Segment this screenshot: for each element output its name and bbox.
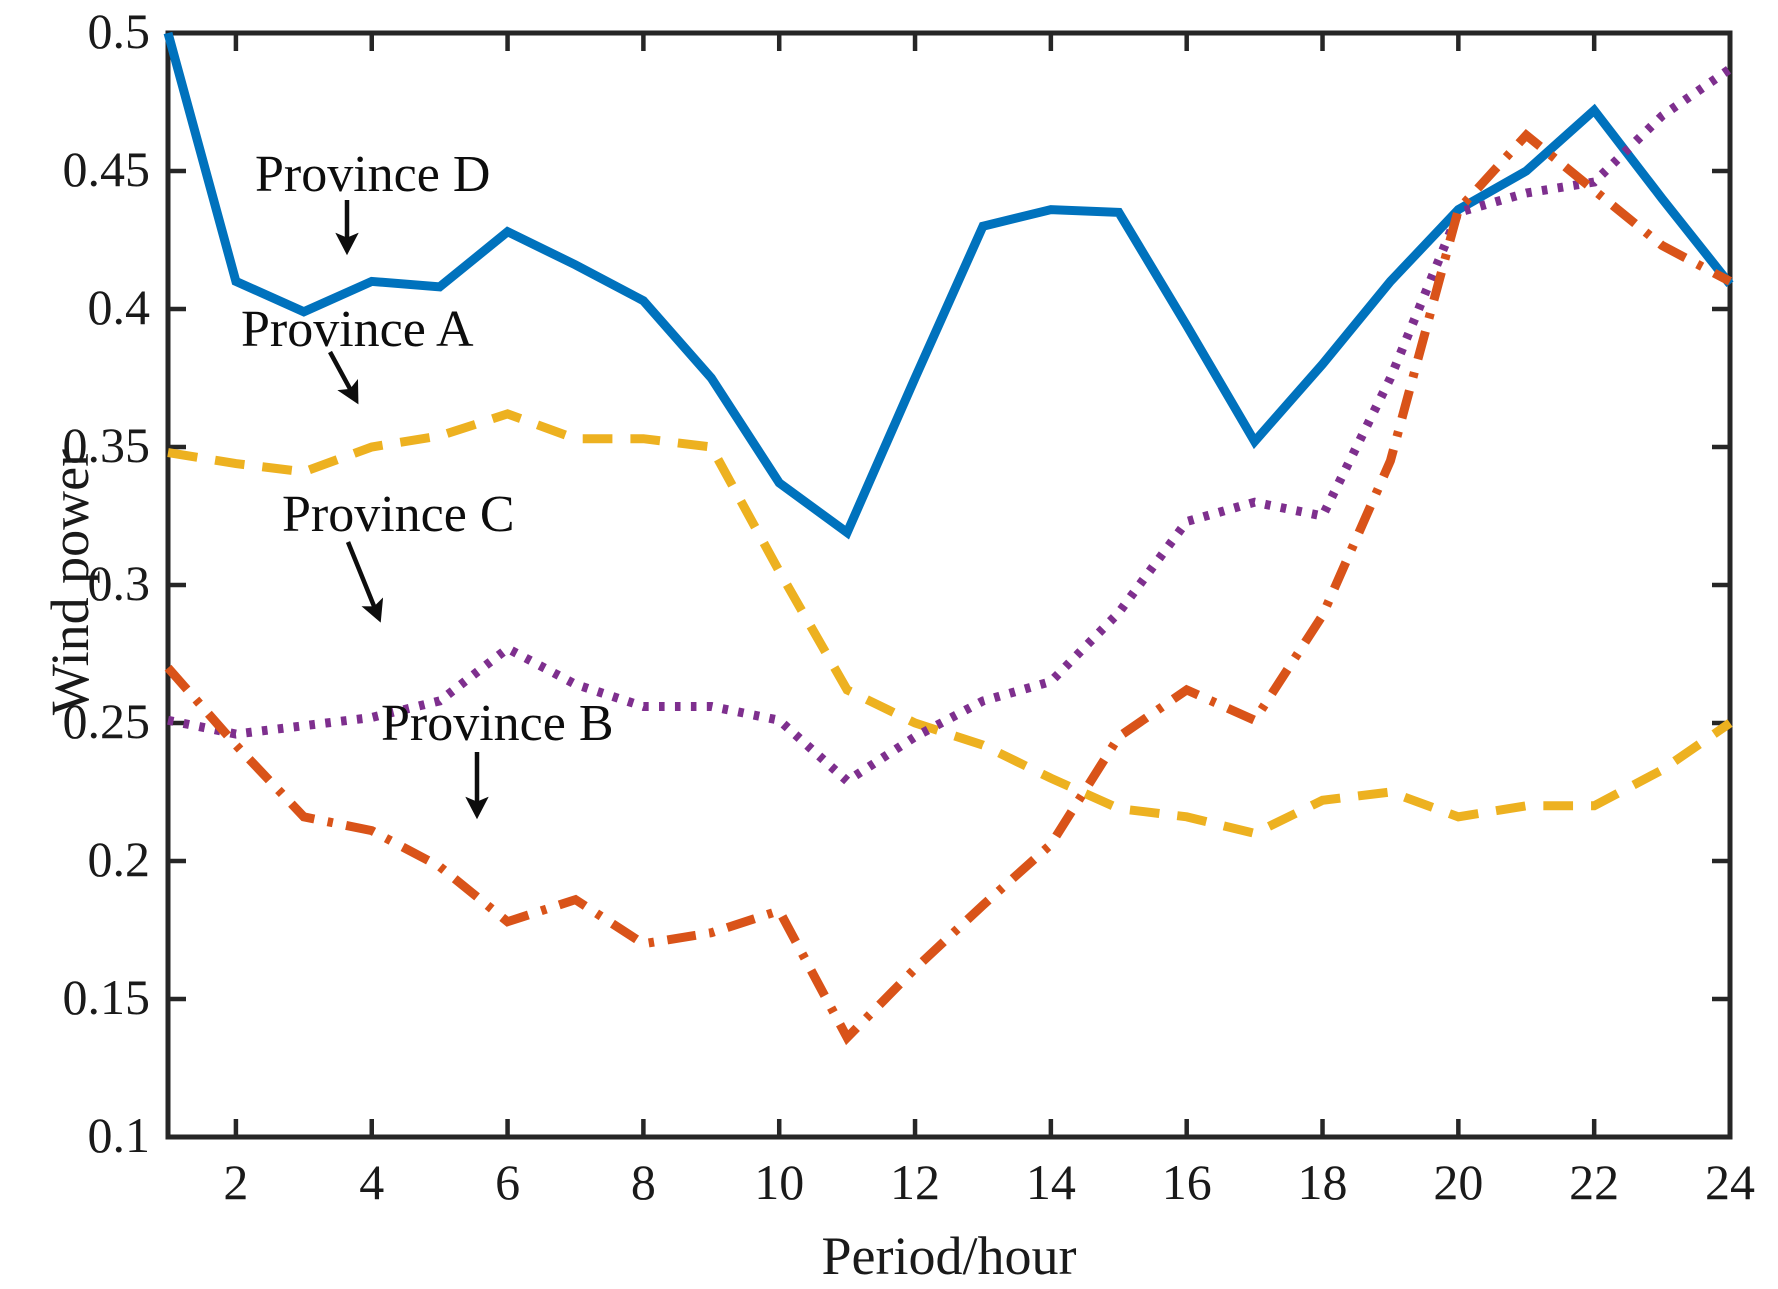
wind-power-chart-figure: Wind power Period/hour 0.10.150.20.250.3…: [0, 0, 1778, 1289]
x-tick-label: 20: [1398, 1157, 1518, 1207]
y-tick-label: 0.35: [63, 420, 151, 470]
y-tick-label: 0.15: [63, 972, 151, 1022]
series-line-province-d: [168, 33, 1730, 533]
y-tick-label: 0.1: [88, 1110, 151, 1160]
x-tick-label: 4: [312, 1157, 432, 1207]
y-tick-label: 0.2: [88, 834, 151, 884]
series-line-province-b: [168, 135, 1730, 1038]
annotation-label-province-b: Province B: [381, 694, 614, 753]
y-tick-label: 0.25: [63, 696, 151, 746]
x-tick-label: 24: [1670, 1157, 1778, 1207]
y-tick-label: 0.3: [88, 558, 151, 608]
x-tick-label: 18: [1263, 1157, 1383, 1207]
annotation-label-province-a: Province A: [241, 300, 474, 359]
x-tick-label: 22: [1534, 1157, 1654, 1207]
series-line-province-a: [168, 414, 1730, 834]
annotation-label-province-c: Province C: [282, 485, 515, 544]
x-tick-label: 12: [855, 1157, 975, 1207]
x-tick-label: 6: [448, 1157, 568, 1207]
x-tick-label: 16: [1127, 1157, 1247, 1207]
y-tick-label: 0.4: [88, 282, 151, 332]
x-tick-label: 10: [719, 1157, 839, 1207]
x-axis-title: Period/hour: [649, 1225, 1249, 1287]
annotation-label-province-d: Province D: [255, 145, 490, 204]
x-tick-label: 2: [176, 1157, 296, 1207]
x-tick-label: 14: [991, 1157, 1111, 1207]
y-tick-label: 0.5: [88, 6, 151, 56]
annotation-arrow: [348, 542, 378, 616]
x-tick-label: 8: [583, 1157, 703, 1207]
y-tick-label: 0.45: [63, 144, 151, 194]
